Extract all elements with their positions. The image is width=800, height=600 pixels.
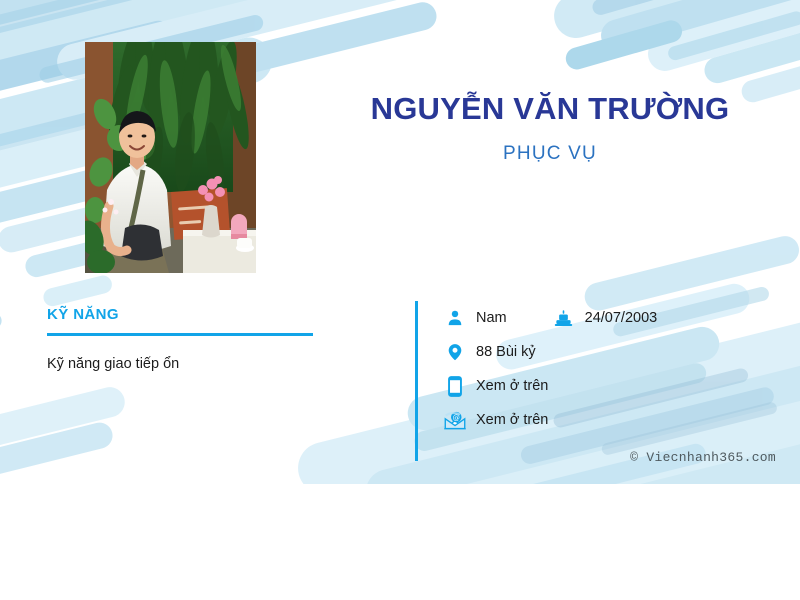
contact-row: Nam 24/07/2003 [444,301,657,335]
phone-value: Xem ở trên [476,378,548,394]
skills-heading: KỸ NĂNG [47,306,313,323]
portrait-photo-illustration [85,42,256,273]
name-block: NGUYỄN VĂN TRƯỜNG PHỤC VỤ [330,88,770,165]
page-title: NGUYỄN VĂN TRƯỜNG [330,88,770,129]
gender-value: Nam [476,310,507,326]
contact-phone: Xem ở trên [444,375,548,397]
contact-row: 88 Bùi kỷ [444,335,657,369]
email-value: Xem ở trên [476,412,548,428]
contact-row: @ Xem ở trên [444,403,657,437]
portrait-photo [85,42,256,273]
skills-divider [47,333,313,336]
location-pin-icon [444,341,466,363]
contact-row: Xem ở trên [444,369,657,403]
contact-email: @ Xem ở trên [444,409,548,431]
contact-section: Nam 24/07/2003 [415,301,657,461]
email-icon: @ [444,409,466,431]
cv-card: NGUYỄN VĂN TRƯỜNG PHỤC VỤ KỸ NĂNG Kỹ năn… [0,0,800,484]
job-title: PHỤC VỤ [330,143,770,165]
phone-icon [444,375,466,397]
birthday-value: 24/07/2003 [585,310,658,326]
list-item: Kỹ năng giao tiếp ổn [47,354,313,374]
contact-gender: Nam [444,307,507,329]
address-value: 88 Bùi kỷ [476,344,536,360]
birthday-cake-icon [553,307,575,329]
skills-section: KỸ NĂNG Kỹ năng giao tiếp ổn [47,306,313,374]
person-icon [444,307,466,329]
contact-birthday: 24/07/2003 [553,307,658,329]
watermark-text: © Viecnhanh365.com [630,450,776,465]
contact-address: 88 Bùi kỷ [444,341,536,363]
